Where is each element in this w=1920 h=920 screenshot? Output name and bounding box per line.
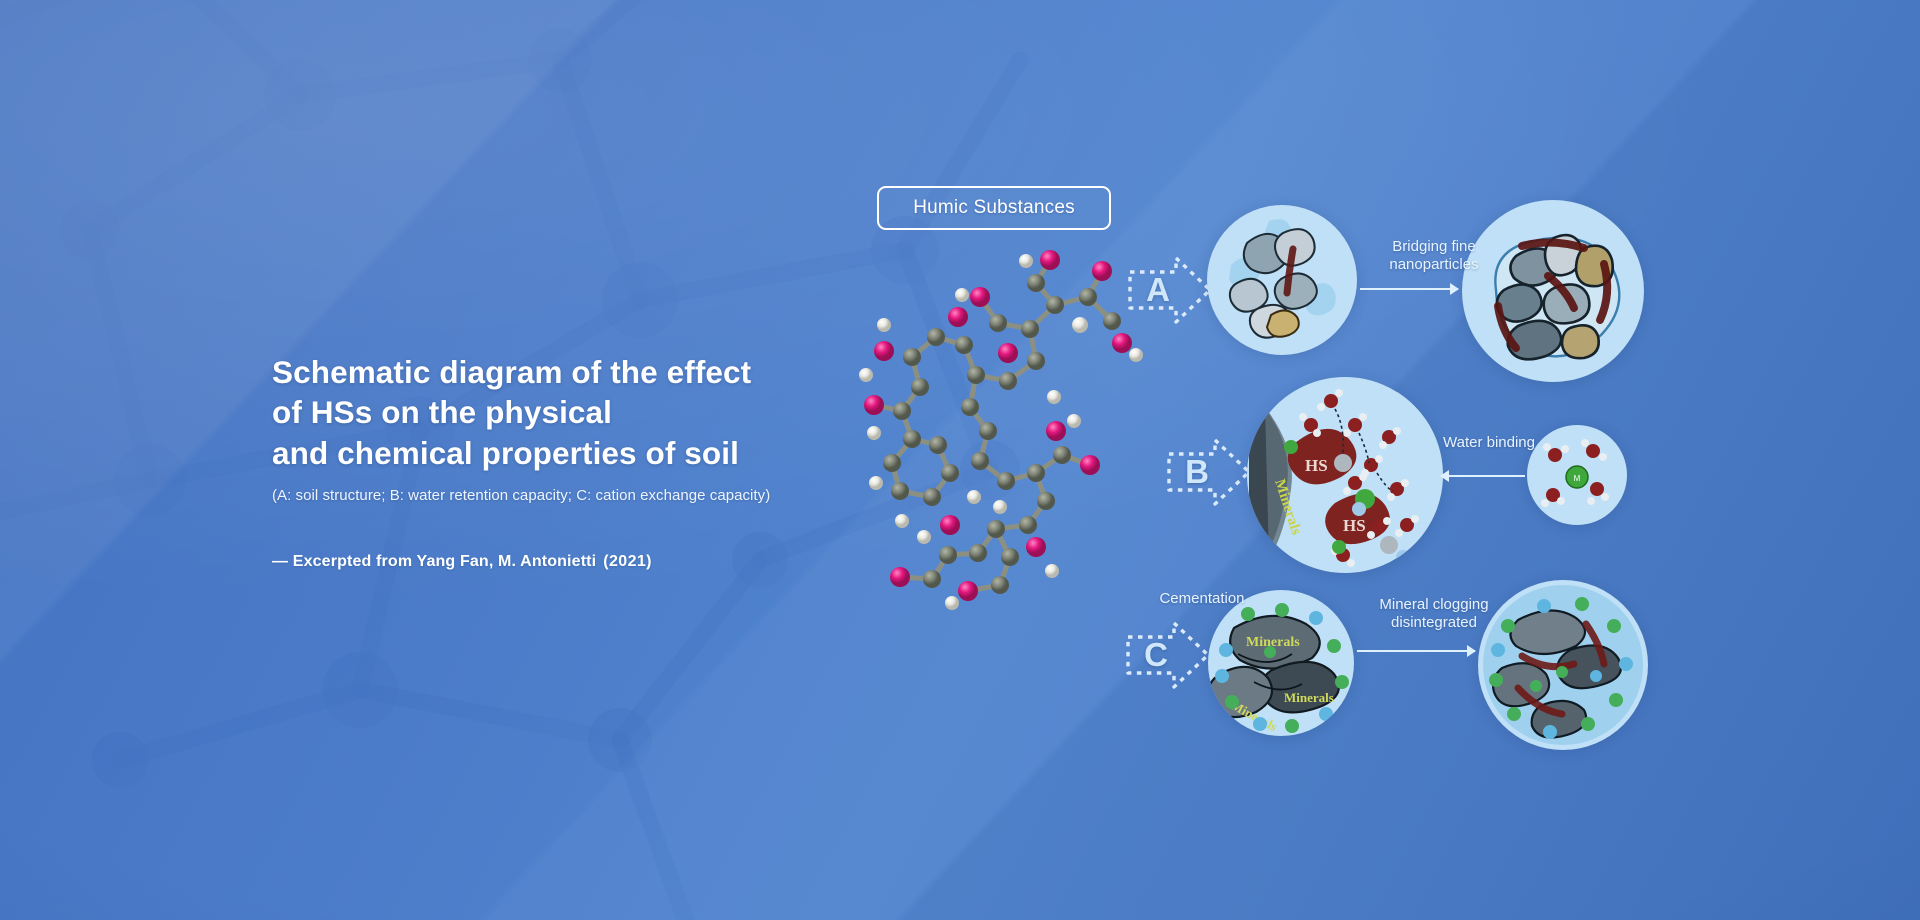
step-letter-b: B	[1173, 453, 1221, 491]
bubble-soil-aggregate-formed	[1462, 200, 1644, 382]
step-arrow-c: C	[1122, 615, 1214, 695]
bubble-label-minerals-c2: Minerals	[1284, 690, 1334, 705]
caption-water-binding: Water binding	[1437, 434, 1541, 452]
bubble-label-hs-2: HS	[1343, 516, 1366, 535]
poster-canvas: Schematic diagram of the effect of HSs o…	[0, 0, 1920, 920]
bubble-mineral-clogging: Minerals Minerals Minerals	[1208, 590, 1354, 736]
caption-mineral-clogging-disintegrated: Mineral clogging disintegrated	[1354, 596, 1514, 633]
step-letter-a: A	[1134, 271, 1182, 309]
connector-arrow-a	[1360, 288, 1458, 290]
caption-cementation: Cementation	[1134, 590, 1270, 608]
step-arrow-b: B	[1163, 432, 1255, 512]
humic-substances-label: Humic Substances	[913, 197, 1075, 219]
figure-area: Humic Substances	[0, 0, 1920, 920]
connector-arrow-b	[1441, 475, 1525, 477]
bubble-label-hs-1: HS	[1305, 456, 1328, 475]
bubble-soil-particles-loose	[1207, 205, 1357, 355]
step-arrow-a: A	[1124, 250, 1216, 330]
bubble-water-retention: HS HS Minerals	[1247, 377, 1443, 573]
connector-arrow-c	[1357, 650, 1475, 652]
svg-text:M: M	[1574, 474, 1581, 483]
step-letter-c: C	[1132, 636, 1180, 674]
caption-bridging-fine-nanoparticles: Bridging fine nanoparticles	[1356, 238, 1512, 275]
bubble-hydrated-cation: M	[1527, 425, 1627, 525]
humic-substances-badge: Humic Substances	[877, 186, 1111, 230]
